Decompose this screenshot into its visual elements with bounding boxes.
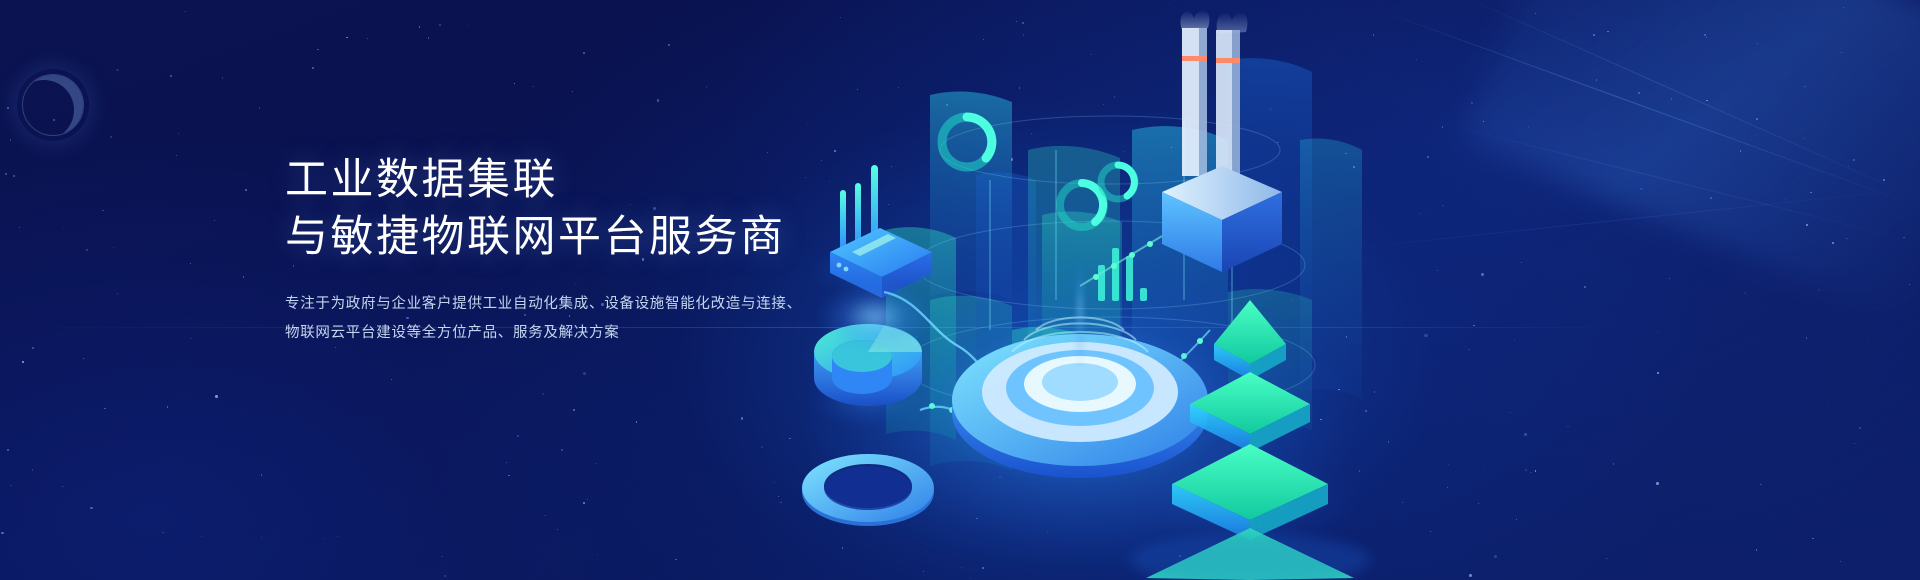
- star: [102, 210, 103, 211]
- star: [116, 69, 118, 71]
- star: [346, 37, 347, 38]
- star: [1567, 426, 1568, 427]
- star: [5, 173, 7, 175]
- star: [1756, 549, 1757, 550]
- chimney-2: [1216, 30, 1232, 176]
- star: [1760, 484, 1761, 485]
- star: [542, 393, 544, 395]
- star: [63, 228, 64, 229]
- star: [583, 52, 585, 54]
- star: [10, 485, 11, 486]
- ring-pad: [802, 454, 934, 526]
- star: [1483, 467, 1484, 468]
- star: [1828, 402, 1829, 403]
- star: [86, 249, 88, 251]
- star: [573, 409, 575, 411]
- star: [1525, 469, 1527, 471]
- star: [1606, 558, 1607, 559]
- star: [1510, 412, 1511, 413]
- star: [1494, 555, 1497, 558]
- star: [7, 107, 9, 109]
- star: [1481, 273, 1484, 276]
- star: [243, 276, 244, 277]
- star: [19, 227, 20, 228]
- star: [1613, 463, 1614, 464]
- star: [657, 99, 659, 101]
- star: [190, 338, 191, 339]
- star: [1584, 286, 1586, 288]
- star: [1854, 443, 1855, 444]
- star: [337, 536, 338, 537]
- star: [90, 507, 92, 509]
- star: [10, 139, 11, 140]
- star: [1633, 406, 1634, 407]
- star: [1516, 519, 1517, 520]
- star: [532, 86, 533, 87]
- star: [583, 502, 585, 504]
- star: [439, 24, 441, 26]
- hero-banner: 工业数据集联 与敏捷物联网平台服务商 专注于为政府与企业客户提供工业自动化集成、…: [0, 0, 1920, 580]
- star: [162, 532, 163, 533]
- star: [675, 559, 676, 560]
- star: [259, 107, 260, 108]
- star: [215, 395, 218, 398]
- star: [176, 155, 177, 156]
- star: [741, 417, 743, 419]
- star: [13, 175, 15, 177]
- star: [32, 347, 34, 349]
- star: [468, 25, 469, 26]
- star: [514, 83, 515, 84]
- star: [557, 529, 558, 530]
- star: [1744, 292, 1746, 294]
- star: [62, 486, 63, 487]
- star: [1657, 372, 1659, 374]
- star: [184, 11, 185, 12]
- star: [1524, 433, 1527, 436]
- star: [508, 475, 509, 476]
- crescent-moon-icon: [22, 74, 84, 136]
- star: [214, 220, 215, 221]
- star: [506, 462, 507, 463]
- star: [1669, 278, 1670, 279]
- subtitle-line-1: 专注于为政府与企业客户提供工业自动化集成、设备设施智能化改造与连接、: [285, 290, 845, 319]
- star: [597, 554, 598, 555]
- star: [312, 67, 314, 69]
- star: [668, 44, 670, 46]
- star: [1656, 482, 1659, 485]
- star: [178, 133, 179, 134]
- star: [245, 189, 247, 191]
- star: [1859, 427, 1861, 429]
- star: [561, 449, 563, 451]
- star: [1868, 338, 1869, 339]
- star: [636, 421, 637, 422]
- star: [1514, 339, 1515, 340]
- star: [32, 469, 33, 470]
- star: [595, 463, 596, 464]
- star: [117, 293, 118, 294]
- star: [706, 86, 707, 87]
- star: [110, 136, 112, 138]
- star: [428, 37, 429, 38]
- star: [761, 446, 763, 448]
- star: [441, 556, 442, 557]
- star: [222, 77, 223, 78]
- star: [391, 379, 392, 380]
- star: [1812, 538, 1813, 539]
- star: [773, 482, 774, 483]
- subtitle: 专注于为政府与企业客户提供工业自动化集成、设备设施智能化改造与连接、 物联网云平…: [285, 290, 845, 348]
- headline-line-1: 工业数据集联: [285, 152, 845, 209]
- star: [572, 91, 573, 92]
- chimney-1: [1182, 28, 1199, 176]
- star: [419, 26, 420, 27]
- star: [1840, 561, 1841, 562]
- star: [367, 38, 368, 39]
- star: [323, 538, 324, 539]
- star: [201, 536, 202, 537]
- star: [83, 358, 84, 359]
- star: [104, 408, 105, 409]
- star: [1530, 472, 1531, 473]
- star: [444, 575, 445, 576]
- star: [113, 247, 114, 248]
- star: [317, 49, 318, 50]
- star: [7, 449, 9, 451]
- headline-line-2: 与敏捷物联网平台服务商: [285, 209, 845, 266]
- star: [1806, 337, 1807, 338]
- star: [261, 537, 262, 538]
- star: [544, 515, 545, 516]
- star: [1657, 331, 1658, 332]
- star: [261, 474, 262, 475]
- star: [1535, 470, 1536, 471]
- star: [170, 75, 171, 76]
- subtitle-line-2: 物联网云平台建设等全方位产品、服务及解决方案: [285, 319, 845, 348]
- star: [1521, 262, 1522, 263]
- star: [587, 499, 588, 500]
- star: [1803, 575, 1804, 576]
- star: [583, 372, 586, 375]
- hero-copy: 工业数据集联 与敏捷物联网平台服务商 专注于为政府与企业客户提供工业自动化集成、…: [285, 152, 845, 348]
- star: [190, 263, 191, 264]
- star: [167, 406, 168, 407]
- star: [22, 361, 23, 362]
- star: [517, 435, 519, 437]
- star: [1, 532, 3, 534]
- star: [1818, 289, 1820, 291]
